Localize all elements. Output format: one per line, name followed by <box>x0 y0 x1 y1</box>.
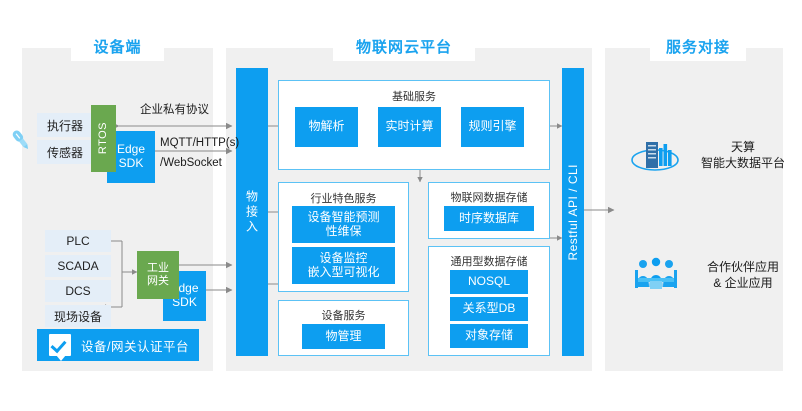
industry-service-title: 行业特色服务 <box>278 190 409 206</box>
industry-service-item-device-monitor-visualization[interactable]: 设备监控 嵌入型可视化 <box>292 247 395 284</box>
api-cli-bar[interactable]: Restful API / CLI <box>562 68 584 356</box>
general-storage-item-relational-db[interactable]: 关系型DB <box>450 297 528 321</box>
industrial-gateway-line2: 网关 <box>147 275 169 288</box>
basic-service-item-wu-jie-xi[interactable]: 物解析 <box>295 107 358 147</box>
device-gateway-auth-platform[interactable]: 设备/网关认证平台 <box>37 329 199 361</box>
iot-data-storage-item-tsdb[interactable]: 时序数据库 <box>444 206 534 231</box>
industry-service-item-predictive-maintenance[interactable]: 设备智能预测 性维保 <box>292 206 395 243</box>
edge-sdk-top-line2: SDK <box>119 157 144 171</box>
predictive-maintenance-line1: 设备智能预测 <box>307 211 379 225</box>
panel-title-service-docking: 服务对接 <box>650 31 746 61</box>
chip-actuator[interactable]: 执行器 <box>37 113 93 137</box>
label-mqtt-http: MQTT/HTTP(s) <box>160 137 239 149</box>
sensor-probe-icon <box>8 127 34 153</box>
chip-field-device[interactable]: 现场设备 <box>45 305 111 327</box>
industrial-gateway-line1: 工业 <box>147 262 169 275</box>
panel-service-docking <box>605 48 783 371</box>
chip-dcs[interactable]: DCS <box>45 280 111 302</box>
api-cli-bar-label: Restful API / CLI <box>566 164 580 261</box>
device-service-title: 设备服务 <box>278 307 409 323</box>
partners-line1: 合作伙伴应用 <box>690 259 796 275</box>
big-data-line1: 天算 <box>690 139 796 155</box>
partners-meeting-icon <box>631 256 681 292</box>
chip-plc[interactable]: PLC <box>45 230 111 252</box>
architecture-diagram: 设备端 物联网云平台 服务对接 <box>0 0 802 411</box>
basic-service-title: 基础服务 <box>278 88 550 104</box>
service-entry-partners-text: 合作伙伴应用 & 企业应用 <box>690 259 796 291</box>
general-storage-item-nosql[interactable]: NOSQL <box>450 270 528 294</box>
general-storage-title: 通用型数据存储 <box>428 253 550 269</box>
device-monitor-line2: 嵌入型可视化 <box>307 266 379 280</box>
big-data-line2: 智能大数据平台 <box>690 155 796 171</box>
rtos-box[interactable]: RTOS <box>91 105 116 172</box>
basic-service-item-real-time-compute[interactable]: 实时计算 <box>378 107 441 147</box>
service-entry-big-data-text: 天算 智能大数据平台 <box>690 139 796 171</box>
partners-line2: & 企业应用 <box>690 275 796 291</box>
label-private-protocol: 企业私有协议 <box>140 101 209 117</box>
label-websocket: /WebSocket <box>160 157 222 169</box>
iot-data-storage-title: 物联网数据存储 <box>428 189 550 205</box>
panel-title-iot-cloud-platform: 物联网云平台 <box>333 31 475 61</box>
chip-scada[interactable]: SCADA <box>45 255 111 277</box>
edge-sdk-top-line1: Edge <box>117 143 145 157</box>
check-badge-icon <box>49 334 71 356</box>
big-data-platform-icon <box>629 134 681 176</box>
industrial-gateway-box[interactable]: 工业 网关 <box>137 251 179 299</box>
device-service-item-thing-management[interactable]: 物管理 <box>302 324 385 349</box>
general-storage-item-object-storage[interactable]: 对象存储 <box>450 324 528 348</box>
predictive-maintenance-line2: 性维保 <box>325 225 361 239</box>
ingress-bar[interactable]: 物接入 <box>236 68 268 356</box>
auth-platform-label: 设备/网关认证平台 <box>81 336 189 355</box>
chip-sensor[interactable]: 传感器 <box>37 140 93 164</box>
ingress-bar-label: 物接入 <box>244 190 261 235</box>
rtos-label: RTOS <box>97 122 110 154</box>
device-monitor-line1: 设备监控 <box>319 252 367 266</box>
basic-service-item-rule-engine[interactable]: 规则引擎 <box>461 107 524 147</box>
panel-title-device-side: 设备端 <box>71 31 164 61</box>
